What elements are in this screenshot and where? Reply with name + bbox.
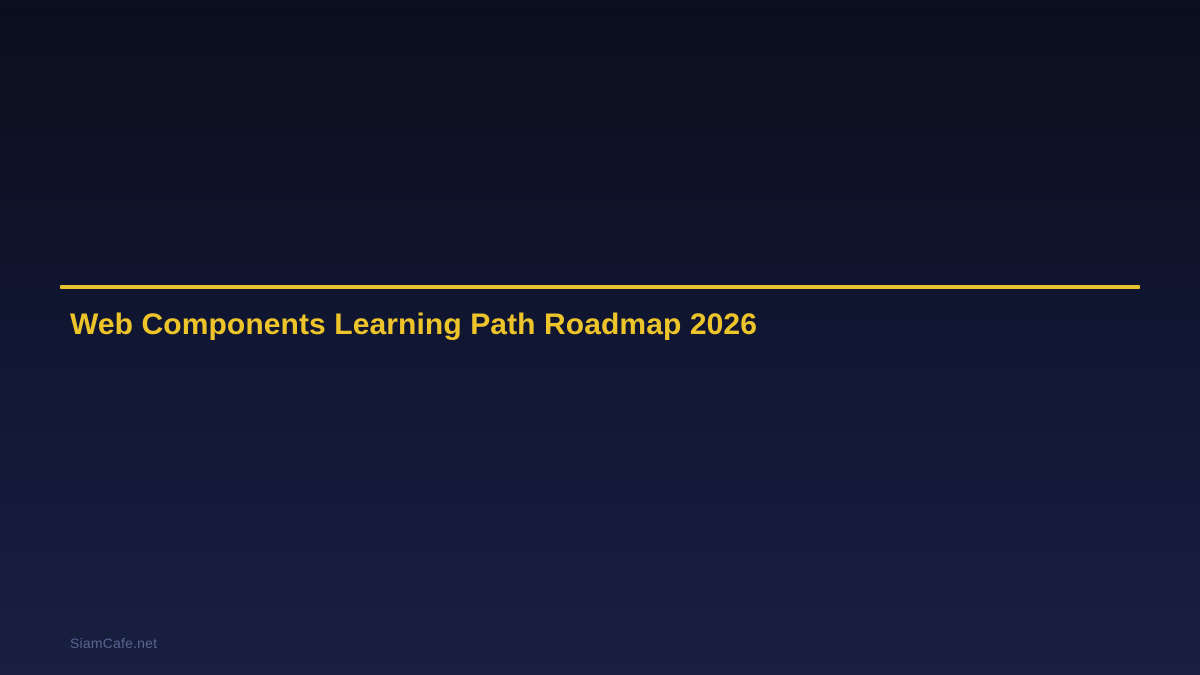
slide-footer: SiamCafe.net (70, 634, 157, 653)
title-slide: Web Components Learning Path Roadmap 202… (0, 0, 1200, 675)
accent-rule (60, 285, 1140, 289)
page-title: Web Components Learning Path Roadmap 202… (70, 307, 1140, 343)
title-block: Web Components Learning Path Roadmap 202… (60, 285, 1140, 343)
footer-brand-label: SiamCafe.net (70, 635, 157, 651)
